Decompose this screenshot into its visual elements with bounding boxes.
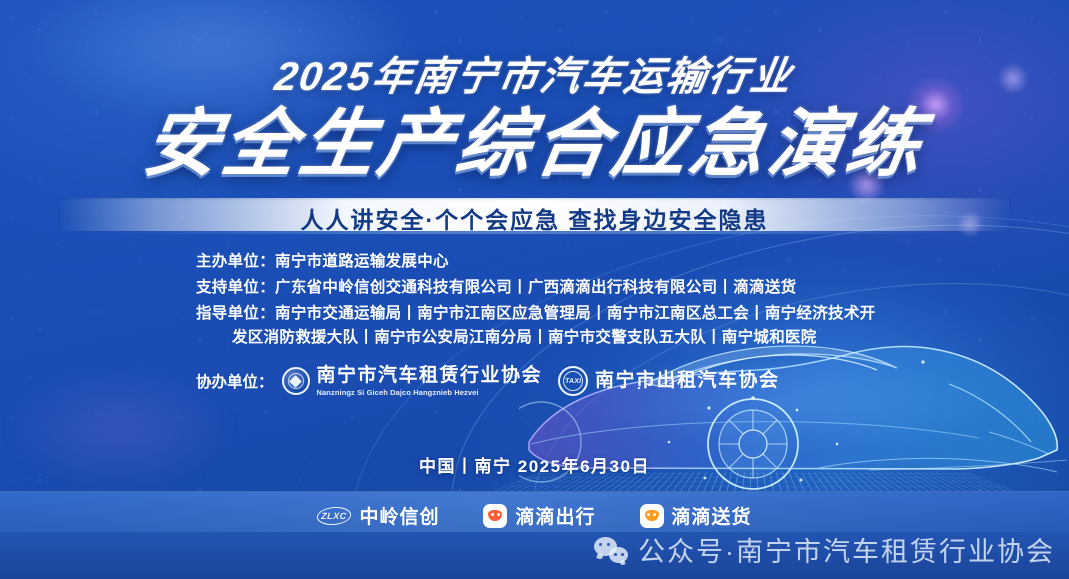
sponsor-item-didi-chuxing: 滴滴出行 bbox=[483, 502, 595, 529]
guidance-unit-value-line1: 南宁市交通运输局丨南宁市江南区应急管理局丨南宁市江南区总工会丨南宁经济技术开 bbox=[275, 302, 1029, 326]
wechat-icon bbox=[594, 537, 628, 563]
guidance-unit-value-line2: 发区消防救援大队丨南宁市公安局江南分局丨南宁市交警支队五大队丨南宁城和医院 bbox=[196, 326, 1029, 350]
sponsor-name-didi-songhuo: 滴滴送货 bbox=[672, 502, 752, 529]
rental-association-emblem-icon bbox=[282, 367, 310, 395]
coorganizer-item-rental-association: 南宁市汽车租赁行业协会 Nanzningz Si Giceh Dajco Han… bbox=[282, 366, 543, 397]
taxi-association-name: 南宁市出租汽车协会 bbox=[595, 371, 780, 392]
headline-block: 2025年南宁市汽车运输行业 安全生产综合应急演练 bbox=[0, 44, 1069, 181]
rental-association-name-zhuang: Nanzningz Si Giceh Dajco Hangznieb Hezve… bbox=[317, 388, 543, 397]
guidance-unit-row: 指导单位： 南宁市交通运输局丨南宁市江南区应急管理局丨南宁市江南区总工会丨南宁经… bbox=[0, 302, 1069, 326]
didi-songhuo-logo-icon bbox=[640, 504, 664, 528]
sponsor-name-didi-chuxing: 滴滴出行 bbox=[515, 502, 595, 529]
support-unit-value: 广东省中岭信创交通科技有限公司丨广西滴滴出行科技有限公司丨滴滴送货 bbox=[275, 276, 1029, 300]
watermark-text: 公众号·南宁市汽车租赁行业协会 bbox=[638, 530, 1055, 569]
sponsor-item-zhongling: ZLXC 中岭信创 bbox=[317, 502, 439, 529]
wechat-watermark: 公众号·南宁市汽车租赁行业协会 bbox=[594, 530, 1055, 569]
taxi-logo-text: TAXI bbox=[564, 378, 581, 385]
header-year-line: 2025年南宁市汽车运输行业 bbox=[271, 44, 797, 102]
host-unit-row: 主办单位： 南宁市道路运输发展中心 bbox=[0, 250, 1069, 274]
taxi-association-emblem-icon: TAXI bbox=[558, 366, 588, 396]
zhongling-logo-icon: ZLXC bbox=[315, 507, 353, 525]
support-unit-row: 支持单位： 广东省中岭信创交通科技有限公司丨广西滴滴出行科技有限公司丨滴滴送货 bbox=[0, 276, 1069, 300]
coorganizer-label: 协办单位： bbox=[196, 370, 274, 392]
slogan-banner: 人人讲安全·个个会应急 查找身边安全隐患 bbox=[0, 196, 1069, 234]
unit-info-block: 主办单位： 南宁市道路运输发展中心 支持单位： 广东省中岭信创交通科技有限公司丨… bbox=[0, 250, 1069, 350]
guidance-unit-label: 指导单位： bbox=[196, 302, 275, 326]
guidance-unit-row-2: 发区消防救援大队丨南宁市公安局江南分局丨南宁市交警支队五大队丨南宁城和医院 bbox=[0, 326, 1069, 350]
sponsor-name-zhongling: 中岭信创 bbox=[359, 502, 439, 529]
rental-association-name: 南宁市汽车租赁行业协会 bbox=[317, 366, 543, 387]
support-unit-label: 支持单位： bbox=[196, 276, 275, 300]
didi-chuxing-logo-icon bbox=[483, 504, 507, 528]
poster-canvas: 2025年南宁市汽车运输行业 安全生产综合应急演练 人人讲安全·个个会应急 查找… bbox=[0, 0, 1069, 579]
coorganizer-item-taxi-association: TAXI 南宁市出租汽车协会 bbox=[558, 366, 780, 396]
host-unit-value: 南宁市道路运输发展中心 bbox=[275, 250, 1029, 274]
zhongling-logo-text: ZLXC bbox=[320, 511, 348, 521]
coorganizer-row: 协办单位： 南宁市汽车租赁行业协会 Nanzningz Si Giceh Daj… bbox=[196, 366, 796, 397]
date-location-line: 中国丨南宁 2025年6月30日 bbox=[0, 452, 1069, 477]
sponsor-logo-list: ZLXC 中岭信创 滴滴出行 滴滴送货 bbox=[0, 502, 1069, 529]
host-unit-label: 主办单位： bbox=[196, 250, 275, 274]
slogan-text: 人人讲安全·个个会应急 查找身边安全隐患 bbox=[0, 201, 1069, 235]
page-title: 安全生产综合应急演练 bbox=[139, 106, 931, 181]
sponsor-item-didi-songhuo: 滴滴送货 bbox=[640, 502, 752, 529]
